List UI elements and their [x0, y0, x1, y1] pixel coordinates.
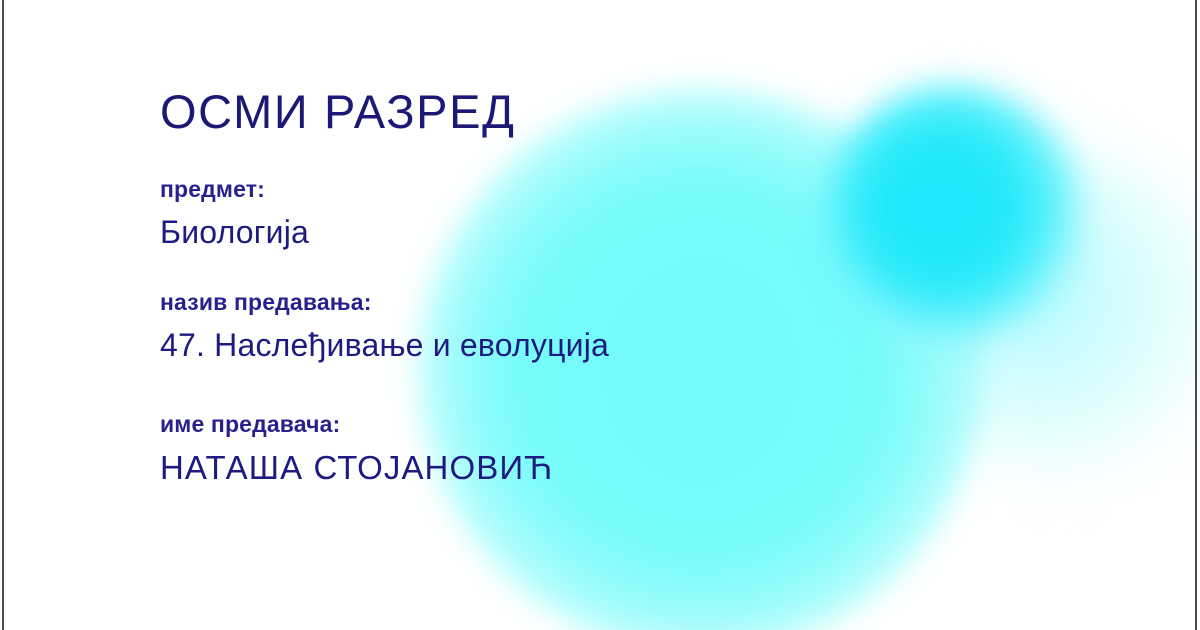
page-title: ОСМИ РАЗРЕД — [160, 88, 516, 135]
cyan-wash-decoration — [905, 150, 1200, 480]
field-subject: предмет: Биологија — [160, 175, 309, 252]
small-cyan-circle-decoration — [824, 84, 1082, 342]
right-frame-rule — [1195, 0, 1197, 630]
field-teacher-name: име предавача: НАТАША СТОЈАНОВИЋ — [160, 410, 553, 488]
field-subject-value: Биологија — [160, 214, 309, 252]
field-subject-label: предмет: — [160, 175, 309, 204]
left-frame-rule — [2, 0, 4, 630]
field-lecture-title-label: назив предавања: — [160, 288, 609, 317]
field-teacher-name-label: име предавача: — [160, 410, 553, 439]
field-lecture-title: назив предавања: 47. Наслеђивање и еволу… — [160, 288, 609, 365]
lecture-title-slide: ОСМИ РАЗРЕД предмет: Биологија назив пре… — [0, 0, 1200, 630]
field-lecture-title-value: 47. Наслеђивање и еволуција — [160, 327, 609, 365]
field-teacher-name-value: НАТАША СТОЈАНОВИЋ — [160, 449, 553, 488]
